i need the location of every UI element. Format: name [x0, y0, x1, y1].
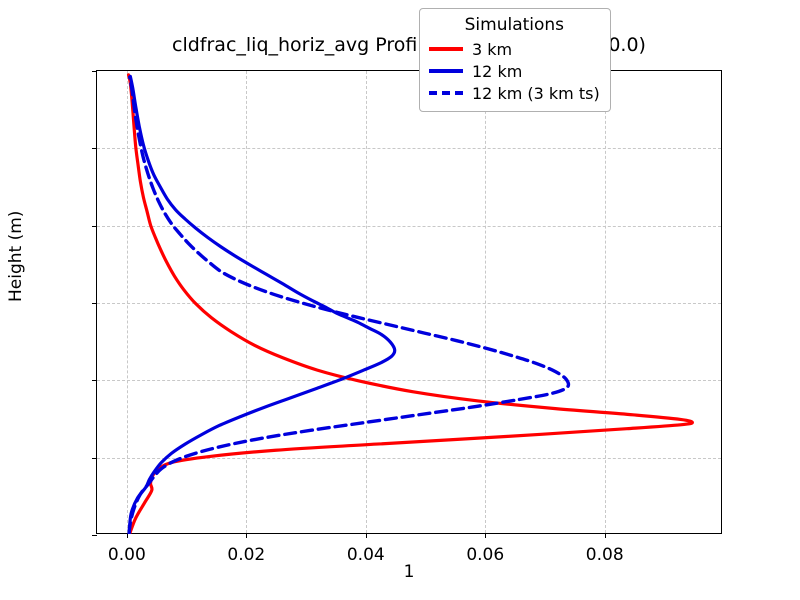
- legend-entries: 3 km12 km12 km (3 km ts): [429, 38, 600, 104]
- series-line: [129, 77, 568, 533]
- series-line: [129, 75, 693, 534]
- x-axis-label: 1: [96, 562, 722, 582]
- x-tick-mark: [246, 533, 247, 538]
- legend-label: 3 km: [472, 40, 512, 59]
- legend-entry[interactable]: 12 km (3 km ts): [429, 82, 600, 104]
- legend-entry[interactable]: 12 km: [429, 60, 600, 82]
- legend-label: 12 km (3 km ts): [472, 84, 600, 103]
- legend-swatch: [429, 69, 463, 73]
- legend-swatch: [429, 91, 463, 95]
- chart-title: cldfrac_liq_horiz_avg Profile (Day 0.0 t…: [96, 34, 722, 56]
- plot-area: 0.000.020.040.060.0805001000150020002500…: [96, 70, 722, 534]
- x-tick-label: 0.00: [108, 545, 146, 565]
- x-tick-mark: [366, 533, 367, 538]
- x-tick-label: 0.02: [227, 545, 265, 565]
- x-tick-label: 0.06: [466, 545, 504, 565]
- data-curves: [97, 71, 721, 534]
- y-axis-label: Height (m): [6, 211, 26, 302]
- x-tick-label: 0.08: [586, 545, 624, 565]
- legend-swatch: [429, 47, 463, 51]
- legend: Simulations 3 km12 km12 km (3 km ts): [419, 8, 611, 112]
- figure: cldfrac_liq_horiz_avg Profile (Day 0.0 t…: [0, 0, 800, 600]
- legend-label: 12 km: [472, 62, 522, 81]
- legend-title: Simulations: [429, 15, 600, 35]
- legend-entry[interactable]: 3 km: [429, 38, 600, 60]
- x-tick-mark: [485, 533, 486, 538]
- x-tick-mark: [605, 533, 606, 538]
- x-tick-label: 0.04: [347, 545, 385, 565]
- x-tick-mark: [127, 533, 128, 538]
- y-tick-mark: [92, 535, 97, 536]
